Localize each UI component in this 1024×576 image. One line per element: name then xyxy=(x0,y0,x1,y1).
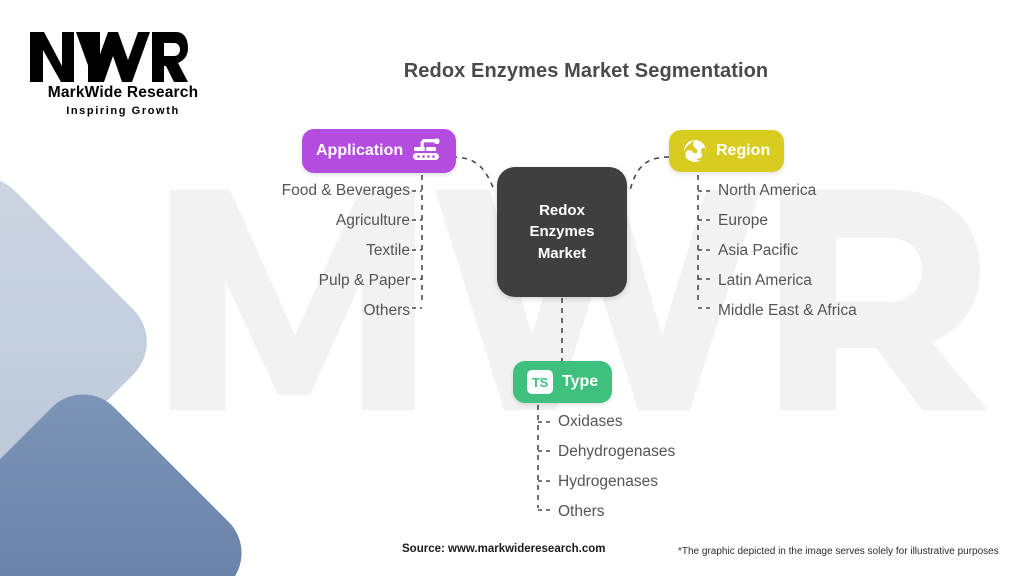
branch-badge-type[interactable]: TS Type xyxy=(513,361,612,403)
center-node-line-1: Redox xyxy=(529,200,594,221)
leaf-item: Middle East & Africa xyxy=(718,303,857,319)
center-node-line-2: Enzymes xyxy=(529,221,594,242)
leaf-item: Oxidases xyxy=(558,414,675,430)
leaf-item: Textile xyxy=(150,243,410,259)
page-title: Redox Enzymes Market Segmentation xyxy=(0,60,1024,83)
infographic-canvas: MarkWide Research Inspiring Growth Redox… xyxy=(0,0,1024,576)
leaf-item: Europe xyxy=(718,213,857,229)
connector-application-to-center xyxy=(452,157,494,190)
logo-tagline: Inspiring Growth xyxy=(28,105,218,117)
leaf-item: Pulp & Paper xyxy=(150,273,410,289)
center-node: Redox Enzymes Market xyxy=(497,167,627,297)
connector-region-to-center xyxy=(630,157,669,190)
ts-chip-icon: TS xyxy=(527,370,553,394)
branch-label-application: Application xyxy=(316,142,403,160)
leaf-item: Agriculture xyxy=(150,213,410,229)
leaf-item: Food & Beverages xyxy=(150,183,410,199)
leaf-item: Dehydrogenases xyxy=(558,444,675,460)
leaf-item: Hydrogenases xyxy=(558,474,675,490)
source-label: Source: www.markwideresearch.com xyxy=(402,543,605,555)
branch-label-region: Region xyxy=(716,142,770,160)
leaf-item: Others xyxy=(150,303,410,319)
leaf-list-type: Oxidases Dehydrogenases Hydrogenases Oth… xyxy=(558,414,675,534)
center-node-line-3: Market xyxy=(529,243,594,264)
leaf-list-application: Food & Beverages Agriculture Textile Pul… xyxy=(150,183,410,333)
globe-icon xyxy=(683,139,707,163)
branch-badge-application[interactable]: Application xyxy=(302,129,456,173)
branch-badge-region[interactable]: Region xyxy=(669,130,784,172)
leaf-item: Latin America xyxy=(718,273,857,289)
leaf-list-region: North America Europe Asia Pacific Latin … xyxy=(718,183,857,333)
leaf-item: North America xyxy=(718,183,857,199)
leaf-item: Others xyxy=(558,504,675,520)
leaf-item: Asia Pacific xyxy=(718,243,857,259)
branch-label-type: Type xyxy=(562,373,598,391)
disclaimer-note: *The graphic depicted in the image serve… xyxy=(678,546,999,557)
page-title-text: Redox Enzymes Market Segmentation xyxy=(404,60,769,82)
logo-company-name: MarkWide Research xyxy=(28,84,218,102)
robot-arm-icon xyxy=(412,138,442,164)
